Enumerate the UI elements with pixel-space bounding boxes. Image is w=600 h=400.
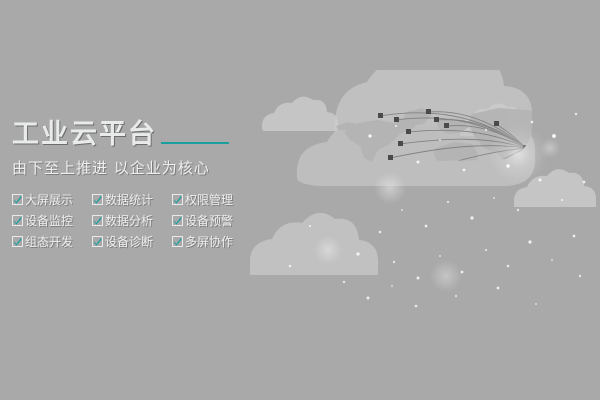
cloud-world-network-illustration — [250, 70, 600, 320]
feature-item: 组态开发 — [12, 232, 88, 251]
feature-list: 大屏展示 数据统计 权限管理 设备监控 — [12, 190, 252, 251]
cloud-shape-small-left — [262, 97, 338, 131]
subtitle: 由下至上推进 以企业为核心 — [12, 159, 252, 178]
check-icon — [172, 194, 183, 205]
feature-label: 权限管理 — [185, 193, 233, 207]
feature-item: 数据分析 — [92, 211, 168, 230]
title-divider-rule — [161, 142, 229, 144]
hero-banner: 工业云平台 由下至上推进 以企业为核心 大屏展示 数据统计 — [0, 0, 600, 400]
title-row: 工业云平台 — [12, 118, 252, 152]
check-icon — [92, 236, 103, 247]
feature-label: 组态开发 — [25, 235, 73, 249]
check-icon — [172, 236, 183, 247]
hero-text-block: 工业云平台 由下至上推进 以企业为核心 大屏展示 数据统计 — [12, 118, 252, 251]
check-icon — [12, 215, 23, 226]
feature-label: 设备诊断 — [105, 235, 153, 249]
feature-item: 设备预警 — [172, 211, 248, 230]
feature-label: 设备预警 — [185, 214, 233, 228]
feature-label: 设备监控 — [25, 214, 73, 228]
page-title: 工业云平台 — [12, 120, 157, 150]
feature-label: 多屏协作 — [185, 235, 233, 249]
feature-item: 大屏展示 — [12, 190, 88, 209]
feature-item: 设备诊断 — [92, 232, 168, 251]
check-icon — [12, 236, 23, 247]
check-icon — [172, 215, 183, 226]
feature-label: 数据分析 — [105, 214, 153, 228]
feature-item: 数据统计 — [92, 190, 168, 209]
feature-label: 数据统计 — [105, 193, 153, 207]
check-icon — [92, 194, 103, 205]
check-icon — [12, 194, 23, 205]
feature-item: 多屏协作 — [172, 232, 248, 251]
cloud-shape-bottom-left — [250, 213, 378, 275]
check-icon — [92, 215, 103, 226]
feature-item: 设备监控 — [12, 211, 88, 230]
feature-label: 大屏展示 — [25, 193, 73, 207]
feature-item: 权限管理 — [172, 190, 248, 209]
